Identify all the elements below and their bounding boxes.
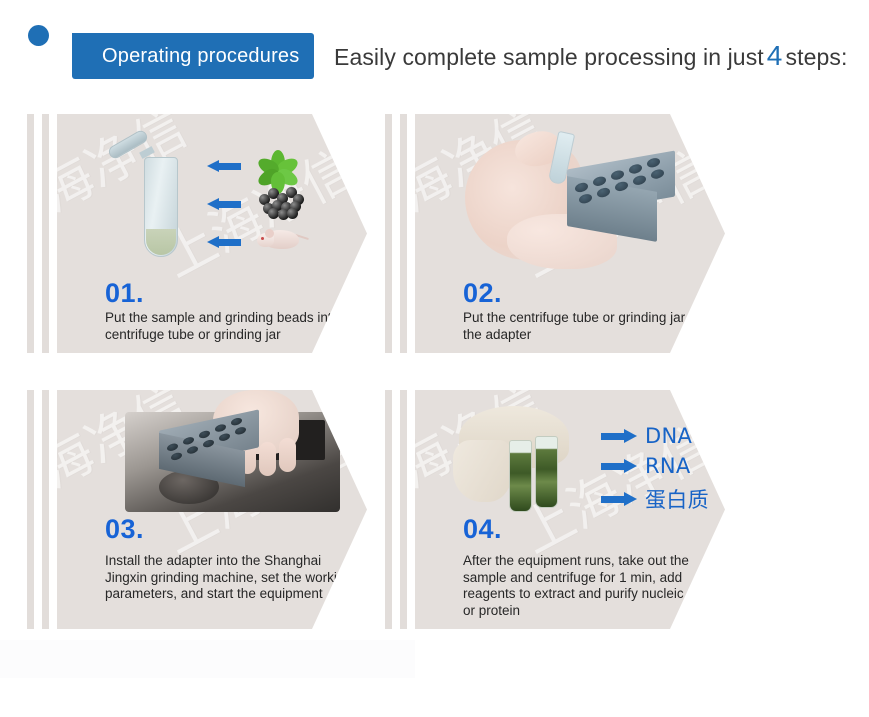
- mouse-eye: [261, 237, 264, 240]
- grinding-beads-icon: [257, 184, 305, 216]
- right-arrow-icon: [601, 492, 637, 506]
- step-number-04: 04.: [463, 514, 502, 545]
- step-card-01: 上海净信 上海净信: [27, 114, 367, 353]
- right-arrow-icon: [601, 459, 637, 473]
- hand-finger: [279, 438, 296, 472]
- output-label-rna: RNA: [645, 454, 691, 478]
- output-row-dna: DNA: [601, 424, 692, 448]
- step-illustration-04: DNA RNA 蛋白质: [453, 398, 713, 528]
- step-panel-body: 上海净信 上海净信: [57, 114, 367, 353]
- sample-arrow-row-2: [207, 198, 241, 211]
- left-arrow-icon: [207, 236, 241, 249]
- step-illustration-03: [105, 396, 357, 516]
- centrifuge-tube-icon: [144, 157, 178, 257]
- step-panel-body: 上海净信 上海净信: [57, 390, 367, 629]
- decorative-bar-2: [42, 390, 49, 629]
- steps-grid: 上海净信 上海净信: [0, 0, 869, 717]
- decorative-bar-1: [27, 390, 34, 629]
- step-panel-body: 上海净信 上海净信 DNA RNA 蛋白质: [415, 390, 725, 629]
- decorative-bar-1: [385, 114, 392, 353]
- step-card-03: 上海净信 上海净信: [27, 390, 367, 629]
- mouse-ear: [265, 229, 274, 238]
- right-arrow-icon: [601, 429, 637, 443]
- decorative-bar-2: [42, 114, 49, 353]
- step-number-02: 02.: [463, 278, 502, 309]
- glove-wrist: [453, 440, 511, 502]
- step-description-01: Put the sample and grinding beads into a…: [105, 310, 355, 343]
- output-label-protein: 蛋白质: [645, 484, 709, 514]
- output-label-dna: DNA: [645, 424, 692, 448]
- step-panel-body: 上海净信 上海净信 02. Put t: [415, 114, 725, 353]
- output-row-rna: RNA: [601, 454, 691, 478]
- decorative-bar-1: [385, 390, 392, 629]
- sample-arrow-row-1: [207, 160, 241, 173]
- step-card-02: 上海净信 上海净信 02. Put t: [385, 114, 725, 353]
- mouse-icon: [257, 222, 307, 252]
- decorative-bar-1: [27, 114, 34, 353]
- left-arrow-icon: [207, 198, 241, 211]
- hand-finger: [259, 442, 276, 476]
- step-description-03: Install the adapter into the Shanghai Ji…: [105, 553, 355, 603]
- step-description-04: After the equipment runs, take out the s…: [463, 553, 713, 619]
- sample-vial-icon: [509, 440, 532, 512]
- step-number-03: 03.: [105, 514, 144, 545]
- output-row-protein: 蛋白质: [601, 484, 709, 514]
- left-arrow-icon: [207, 160, 241, 173]
- footer-band: [0, 640, 415, 678]
- step-illustration-02: [455, 122, 715, 277]
- step-illustration-01: [99, 132, 349, 272]
- step-description-02: Put the centrifuge tube or grinding jar …: [463, 310, 713, 343]
- leaf-icon: [257, 144, 299, 184]
- decorative-bar-2: [400, 114, 407, 353]
- step-card-04: 上海净信 上海净信 DNA RNA 蛋白质: [385, 390, 725, 629]
- sample-arrow-row-3: [207, 236, 241, 249]
- decorative-bar-2: [400, 390, 407, 629]
- step-number-01: 01.: [105, 278, 144, 309]
- tube-sample-fill: [146, 229, 176, 255]
- sample-vial-icon: [535, 436, 558, 508]
